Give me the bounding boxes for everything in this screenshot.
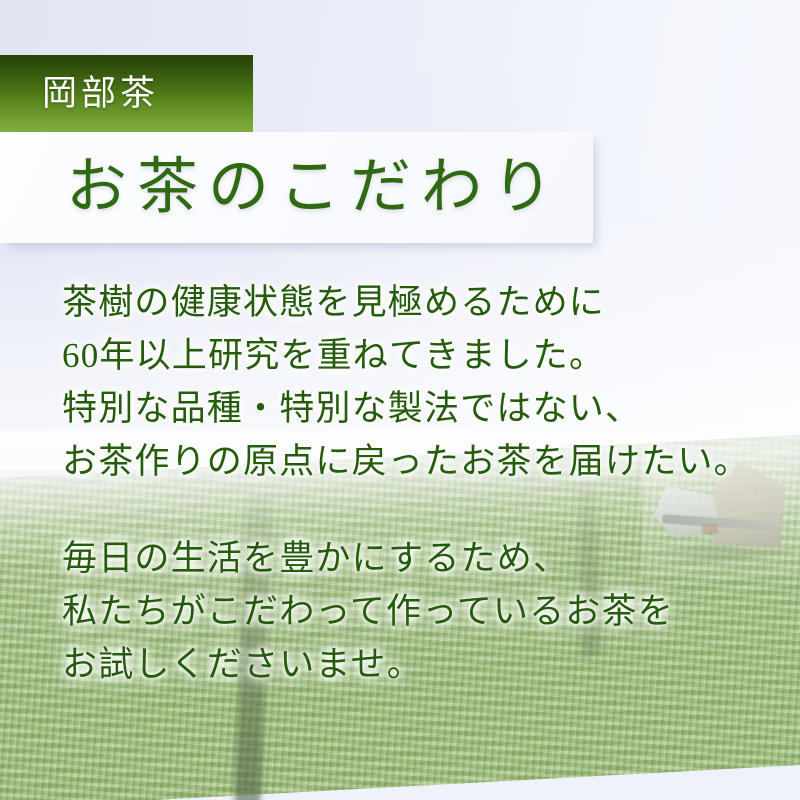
brand-banner: 岡部茶 <box>0 55 253 132</box>
copy-line: 毎日の生活を豊かにするため、 <box>62 539 569 578</box>
title-panel: お茶のこだわり <box>0 132 593 243</box>
copy-line: 茶樹の健康状態を見極めるために <box>62 283 605 322</box>
copy-line: お茶作りの原点に戻ったお茶を届けたい。 <box>62 442 750 481</box>
paragraph-1: 茶樹の健康状態を見極めるために 60年以上研究を重ねてきました。 特別な品種・特… <box>62 276 762 488</box>
copy-line: 60年以上研究を重ねてきました。 <box>62 336 605 375</box>
paragraph-2: 毎日の生活を豊かにするため、 私たちがこだわって作っているお茶を お試しください… <box>62 532 762 691</box>
copy-line: お試しくださいませ。 <box>62 645 423 684</box>
copy-line: 私たちがこだわって作っているお茶を <box>62 592 674 631</box>
page-title: お茶のこだわり <box>66 157 563 218</box>
brand-banner-label: 岡部茶 <box>42 76 159 111</box>
body-copy: 茶樹の健康状態を見極めるために 60年以上研究を重ねてきました。 特別な品種・特… <box>62 276 762 691</box>
promo-banner-page: 岡部茶 お茶のこだわり 茶樹の健康状態を見極めるために 60年以上研究を重ねてき… <box>0 0 800 800</box>
copy-line: 特別な品種・特別な製法ではない、 <box>62 389 641 428</box>
